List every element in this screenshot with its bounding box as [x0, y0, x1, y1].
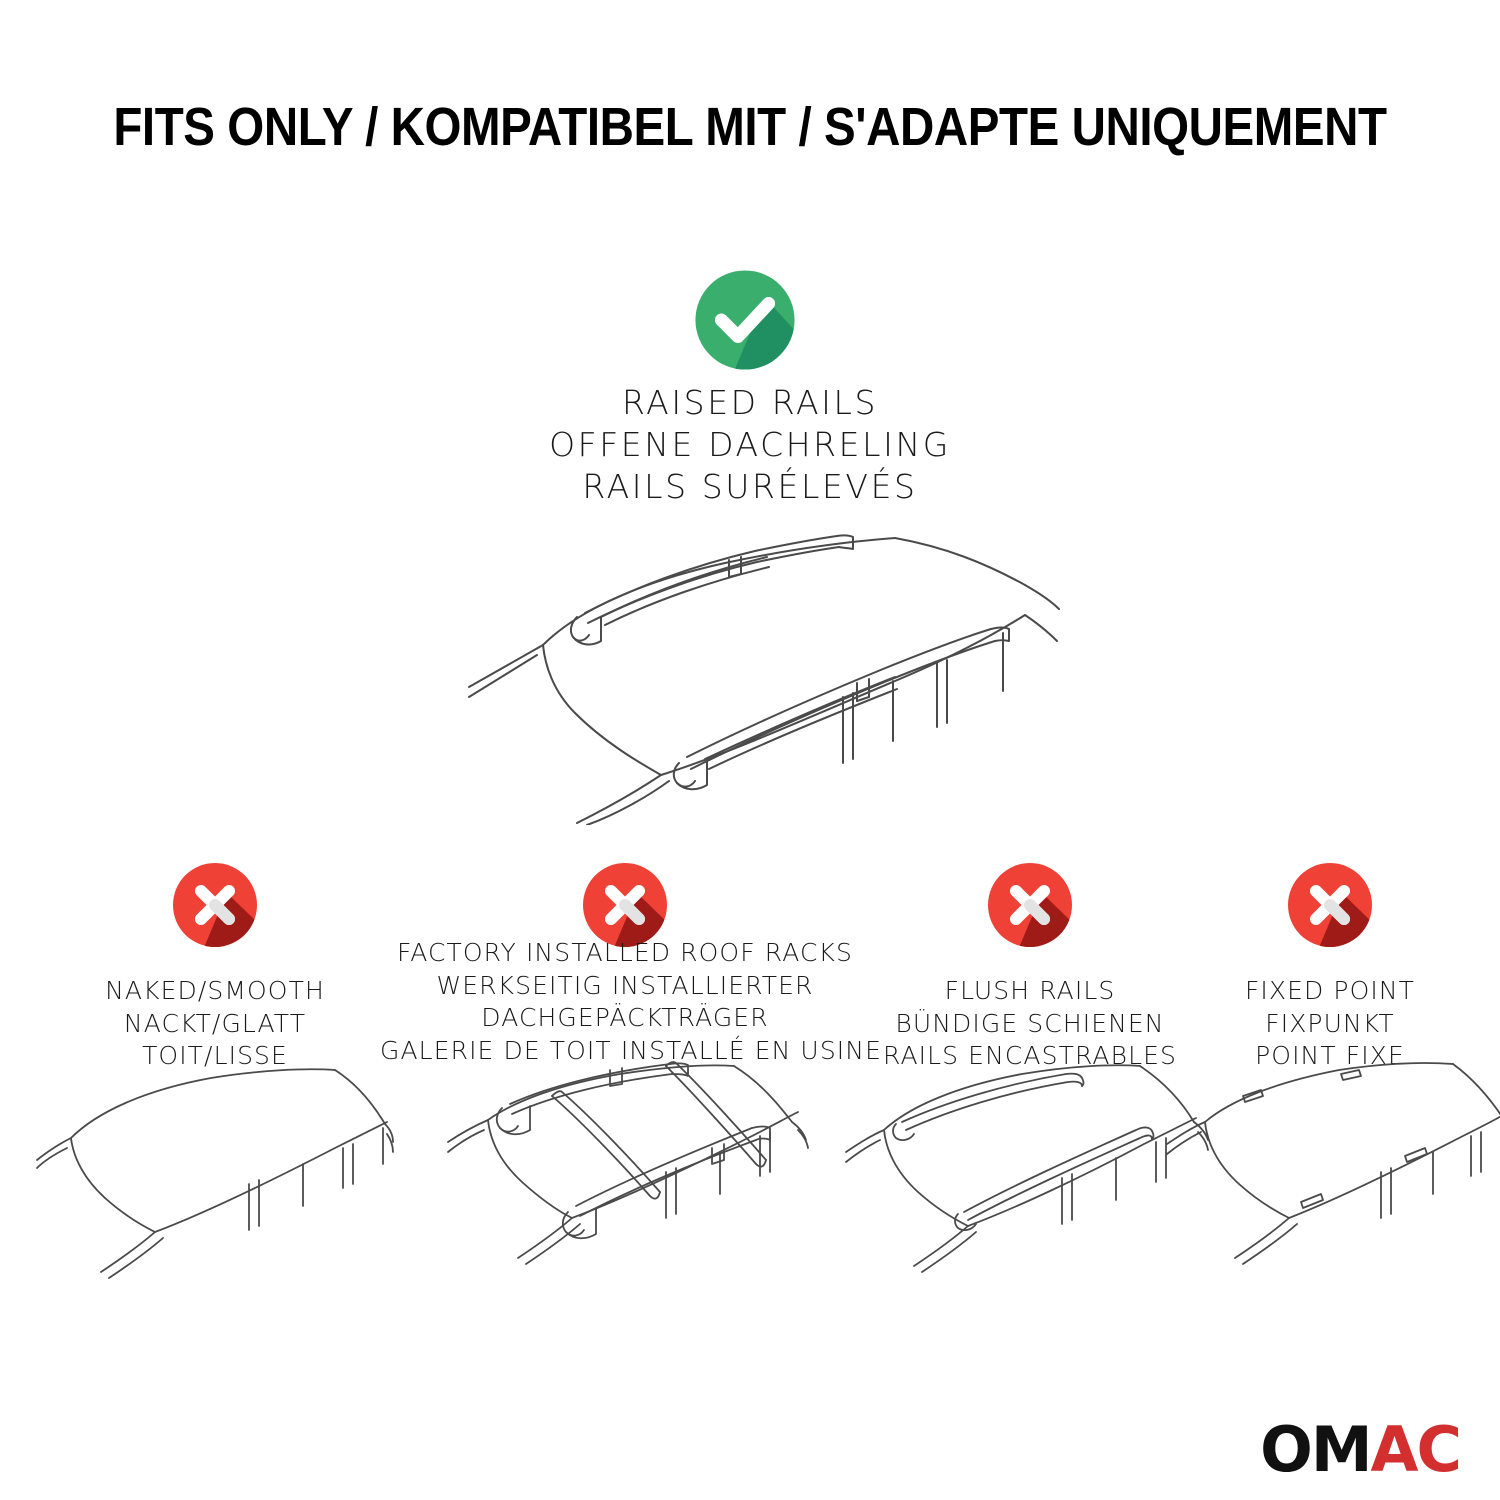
label-line: FIXED POINT: [1165, 975, 1495, 1008]
car-roof-with-raised-rails-illustration: [425, 505, 1065, 825]
omac-logo: OMAC: [1260, 1420, 1460, 1480]
label-line: FIXPUNKT: [1165, 1008, 1495, 1041]
logo-text-om: OM: [1260, 1419, 1370, 1481]
check-circle-icon: [686, 261, 804, 379]
label-line: NACKT/GLATT: [30, 1008, 400, 1041]
compatible-label-line-2: OFFENE DACHRELING: [300, 424, 1200, 466]
label-line: NAKED/SMOOTH: [30, 975, 400, 1008]
incompatible-labels-naked-smooth: NAKED/SMOOTH NACKT/GLATT TOIT/LISSE: [30, 975, 400, 1073]
car-roof-fixed-point-illustration: [1165, 1060, 1500, 1280]
compatible-labels: RAISED RAILS OFFENE DACHRELING RAILS SUR…: [300, 382, 1200, 509]
car-roof-with-factory-crossbars-illustration: [430, 1060, 810, 1280]
cross-circle-icon: [165, 855, 265, 955]
compatible-label-line-1: RAISED RAILS: [300, 382, 1200, 424]
logo-text-ac: AC: [1371, 1419, 1460, 1481]
cross-circle-icon: [1280, 855, 1380, 955]
header: FITS ONLY / KOMPATIBEL MIT / S'ADAPTE UN…: [0, 96, 1500, 158]
incompatible-labels-fixed-point: FIXED POINT FIXPUNKT POINT FIXE: [1165, 975, 1495, 1073]
label-line: WERKSEITIG INSTALLIERTER: [380, 970, 870, 1003]
label-line: FACTORY INSTALLED ROOF RACKS: [380, 937, 870, 970]
car-roof-with-flush-rails-illustration: [840, 1060, 1210, 1280]
cross-circle-icon: [980, 855, 1080, 955]
compatible-label-line-3: RAILS SURÉLEVÉS: [300, 466, 1200, 508]
page-title: FITS ONLY / KOMPATIBEL MIT / S'ADAPTE UN…: [90, 96, 1410, 158]
car-roof-bare-smooth-illustration: [35, 1060, 395, 1280]
incompatible-labels-factory-racks: FACTORY INSTALLED ROOF RACKS WERKSEITIG …: [380, 937, 870, 1067]
label-line: DACHGEPÄCKTRÄGER: [380, 1002, 870, 1035]
